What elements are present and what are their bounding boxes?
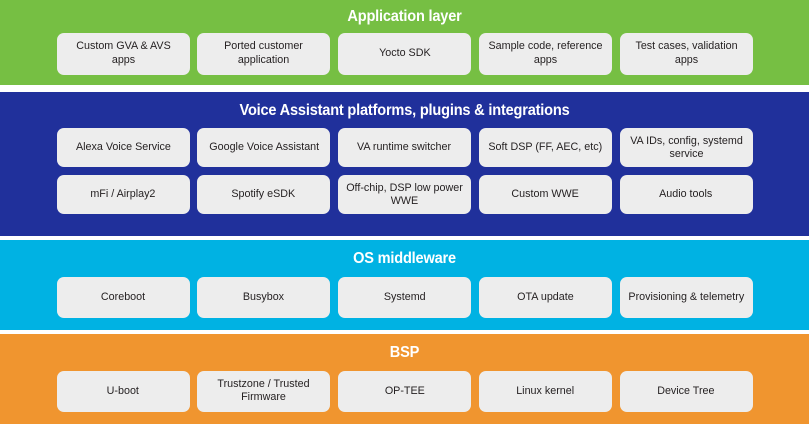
card-va-runtime-switcher[interactable]: VA runtime switcher (338, 128, 471, 167)
card-u-boot[interactable]: U-boot (57, 371, 190, 412)
card-row-os-middleware-1: Coreboot Busybox Systemd OTA update Prov… (57, 277, 753, 318)
card-systemd[interactable]: Systemd (338, 277, 471, 318)
card-row-voice-assistant-2: mFi / Airplay2 Spotify eSDK Off-chip, DS… (57, 175, 753, 214)
card-label: Busybox (243, 291, 284, 304)
card-label: Custom WWE (512, 188, 579, 201)
card-provisioning-telemetry[interactable]: Provisioning & telemetry (620, 277, 753, 318)
layer-application: Application layer Custom GVA & AVS apps … (0, 0, 809, 85)
card-label: Systemd (384, 291, 426, 304)
card-soft-dsp[interactable]: Soft DSP (FF, AEC, etc) (479, 128, 612, 167)
card-ota-update[interactable]: OTA update (479, 277, 612, 318)
card-row-bsp-1: U-boot Trustzone / Trusted Firmware OP-T… (57, 371, 753, 412)
card-label: Google Voice Assistant (209, 141, 319, 154)
card-label: Test cases, validation apps (627, 40, 745, 66)
card-audio-tools[interactable]: Audio tools (620, 175, 753, 214)
card-off-chip-dsp-low-power-wwe[interactable]: Off-chip, DSP low power WWE (338, 175, 471, 214)
card-op-tee[interactable]: OP-TEE (338, 371, 471, 412)
layer-title-os-middleware: OS middleware (24, 251, 784, 267)
card-label: Off-chip, DSP low power WWE (345, 182, 463, 208)
card-coreboot[interactable]: Coreboot (57, 277, 190, 318)
card-row-voice-assistant-1: Alexa Voice Service Google Voice Assista… (57, 128, 753, 167)
card-label: Custom GVA & AVS apps (64, 40, 182, 66)
card-custom-wwe[interactable]: Custom WWE (479, 175, 612, 214)
card-label: Coreboot (101, 291, 145, 304)
card-mfi-airplay2[interactable]: mFi / Airplay2 (57, 175, 190, 214)
layer-voice-assistant: Voice Assistant platforms, plugins & int… (0, 92, 809, 237)
card-device-tree[interactable]: Device Tree (620, 371, 753, 412)
card-custom-gva-avs-apps[interactable]: Custom GVA & AVS apps (57, 33, 190, 75)
layer-title-bsp: BSP (24, 345, 784, 361)
card-busybox[interactable]: Busybox (197, 277, 330, 318)
card-label: Ported customer application (205, 40, 323, 66)
layer-os-middleware: OS middleware Coreboot Busybox Systemd O… (0, 240, 809, 330)
software-stack-diagram: Application layer Custom GVA & AVS apps … (0, 0, 809, 424)
card-yocto-sdk[interactable]: Yocto SDK (338, 33, 471, 75)
layer-title-voice-assistant: Voice Assistant platforms, plugins & int… (24, 103, 784, 119)
card-label: Device Tree (657, 385, 714, 398)
card-test-cases-validation-apps[interactable]: Test cases, validation apps (620, 33, 753, 75)
card-trustzone-trusted-firmware[interactable]: Trustzone / Trusted Firmware (197, 371, 330, 412)
card-alexa-voice-service[interactable]: Alexa Voice Service (57, 128, 190, 167)
card-label: Provisioning & telemetry (628, 291, 744, 304)
card-label: OTA update (517, 291, 574, 304)
card-label: Linux kernel (516, 385, 574, 398)
card-va-ids-config-systemd-service[interactable]: VA IDs, config, systemd service (620, 128, 753, 167)
card-label: OP-TEE (385, 385, 425, 398)
card-label: Audio tools (659, 188, 712, 201)
layer-bsp: BSP U-boot Trustzone / Trusted Firmware … (0, 334, 809, 424)
card-label: Trustzone / Trusted Firmware (205, 378, 323, 404)
layer-title-application: Application layer (24, 9, 784, 25)
card-label: U-boot (107, 385, 139, 398)
card-sample-code-reference-apps[interactable]: Sample code, reference apps (479, 33, 612, 75)
card-label: VA IDs, config, systemd service (627, 135, 745, 161)
card-spotify-esdk[interactable]: Spotify eSDK (197, 175, 330, 214)
card-label: Sample code, reference apps (486, 40, 604, 66)
card-ported-customer-application[interactable]: Ported customer application (197, 33, 330, 75)
card-label: Yocto SDK (379, 47, 431, 60)
card-label: Alexa Voice Service (76, 141, 171, 154)
card-linux-kernel[interactable]: Linux kernel (479, 371, 612, 412)
card-label: mFi / Airplay2 (90, 188, 155, 201)
card-row-application-1: Custom GVA & AVS apps Ported customer ap… (57, 33, 753, 75)
card-label: VA runtime switcher (357, 141, 451, 154)
layer-divider-1 (0, 85, 809, 92)
card-label: Spotify eSDK (232, 188, 296, 201)
card-google-voice-assistant[interactable]: Google Voice Assistant (197, 128, 330, 167)
card-label: Soft DSP (FF, AEC, etc) (488, 141, 602, 154)
